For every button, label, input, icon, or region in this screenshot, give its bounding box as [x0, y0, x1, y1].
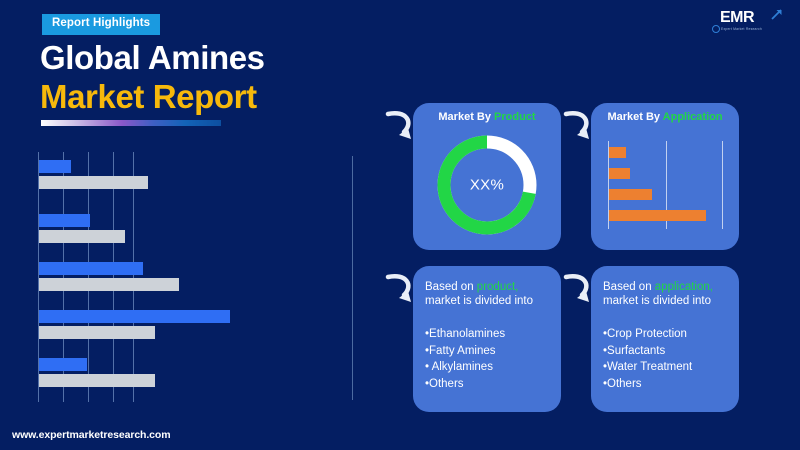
- mini-bar-0: [609, 147, 626, 158]
- application-bar-chart: [608, 141, 724, 229]
- product-segment-item-3: •Others: [425, 376, 559, 393]
- card-market-by-product[interactable]: Market By Product XX%: [413, 103, 561, 250]
- bar-gray-0: [39, 176, 148, 189]
- main-bar-chart: [38, 152, 298, 402]
- application-lead-static-1: Based on: [603, 281, 655, 293]
- gridline-4: [133, 152, 134, 402]
- product-lead-static-1: Based on: [425, 281, 477, 293]
- emr-logo: EMR Expert Market Research: [712, 8, 784, 38]
- bar-gray-3: [39, 326, 155, 339]
- footer-url[interactable]: www.expertmarketresearch.com: [12, 430, 170, 441]
- mini-gridline-2: [722, 141, 723, 229]
- curved-arrow-icon: [562, 271, 594, 313]
- logo-ring-icon: [712, 25, 720, 33]
- bar-gray-1: [39, 230, 125, 243]
- card-product-title-highlight: Product: [494, 111, 536, 123]
- application-segment-item-3: •Others: [603, 376, 737, 393]
- gridline-2: [88, 152, 89, 402]
- product-segment-item-1: •Fatty Amines: [425, 343, 559, 360]
- card-product-title: Market By Product: [413, 112, 561, 123]
- infographic-slide: Report Highlights Global Amines Market R…: [0, 0, 800, 450]
- product-segment-item-2: • Alkylamines: [425, 359, 559, 376]
- application-lead-highlight: application,: [655, 281, 713, 293]
- application-segment-list: •Crop Protection•Surfactants•Water Treat…: [603, 326, 737, 392]
- curved-arrow-icon: [384, 108, 416, 150]
- application-segment-item-2: •Water Treatment: [603, 359, 737, 376]
- application-list-lead: Based on application, market is divided …: [603, 280, 733, 308]
- bar-gray-2: [39, 278, 179, 291]
- application-segment-item-0: •Crop Protection: [603, 326, 737, 343]
- section-divider: [352, 156, 353, 400]
- card-application-title-static: Market By: [607, 111, 662, 123]
- product-list-lead: Based on product, market is divided into: [425, 280, 555, 308]
- mini-bar-3: [609, 210, 706, 221]
- product-lead-static-2: market is divided into: [425, 295, 533, 307]
- mini-bar-1: [609, 168, 630, 179]
- page-title-secondary: Market Report: [40, 80, 257, 113]
- logo-tagline: Expert Market Research: [721, 27, 762, 31]
- growth-arrow-icon: [770, 8, 784, 22]
- card-product-title-static: Market By: [438, 111, 494, 123]
- mini-bar-2: [609, 189, 652, 200]
- gridline-3: [113, 152, 114, 402]
- application-segment-item-1: •Surfactants: [603, 343, 737, 360]
- product-donut-chart: XX%: [433, 131, 541, 239]
- bar-blue-3: [39, 310, 230, 323]
- bar-gray-4: [39, 374, 155, 387]
- report-highlights-badge: Report Highlights: [42, 14, 160, 35]
- bar-blue-0: [39, 160, 71, 173]
- card-application-title-highlight: Application: [663, 111, 723, 123]
- product-segment-item-0: •Ethanolamines: [425, 326, 559, 343]
- application-lead-static-2: market is divided into: [603, 295, 711, 307]
- donut-center-label: XX%: [433, 178, 541, 193]
- card-application-segments[interactable]: Based on application, market is divided …: [591, 266, 739, 412]
- card-market-by-application[interactable]: Market By Application: [591, 103, 739, 250]
- bar-blue-1: [39, 214, 90, 227]
- curved-arrow-icon: [384, 271, 416, 313]
- bar-blue-2: [39, 262, 143, 275]
- product-segment-list: •Ethanolamines•Fatty Amines• Alkylamines…: [425, 326, 559, 392]
- page-title-primary: Global Amines: [40, 41, 265, 74]
- card-application-title: Market By Application: [591, 112, 739, 123]
- bar-blue-4: [39, 358, 87, 371]
- card-product-segments[interactable]: Based on product, market is divided into…: [413, 266, 561, 412]
- product-lead-highlight: product,: [477, 281, 519, 293]
- logo-wordmark: EMR: [720, 10, 754, 26]
- curved-arrow-icon: [562, 108, 594, 150]
- title-gradient-divider: [41, 120, 221, 126]
